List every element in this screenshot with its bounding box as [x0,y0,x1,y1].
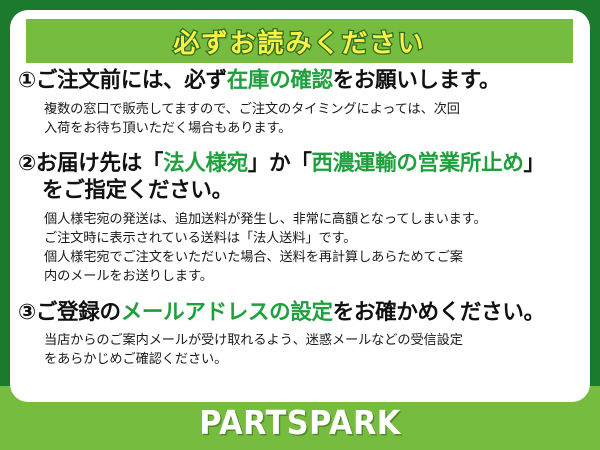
heading-text: お届け先は「 [36,151,163,176]
notice-body-line: 個人様宅宛でご注文をいただいた場合、送料を再計算しあらためてご案 [44,248,582,267]
notice-item-body: 複数の窓口で販売してますので、ご注文のタイミングによっては、次回入荷をお待ち頂い… [18,100,582,139]
notice-item-marker: ① [18,68,36,93]
notice-item-heading: ①ご注文前には、必ず在庫の確認をお願いします。 [18,68,582,95]
heading-highlight: 西濃運輸の営業所止め [312,151,524,176]
spacer [10,138,590,151]
brand-wordmark: PARTSPARK [24,403,576,442]
title-banner: 必ずお読みください [26,19,573,63]
notice-item-heading: ②お届け先は「法人様宛」か「西濃運輸の営業所止め」 [18,151,582,178]
notice-item-body: 個人様宅宛の発送は、追加送料が発生し、非常に高額となってしまいます。ご注文時に表… [18,210,582,287]
notice-card: 必ずお読みください ①ご注文前には、必ず在庫の確認をお願いします。複数の窓口で販… [10,10,590,402]
heading-text: ご注文前には、必ず [36,68,227,93]
notice-body-line: をあらかじめご確認ください。 [44,350,582,369]
notice-body-line: 内のメールをお送りします。 [44,267,582,286]
heading-text: ご登録の [36,300,121,325]
notice-item-body: 当店からのご案内メールが受け取れるよう、迷惑メールなどの受信設定をあらかじめご確… [18,331,582,370]
heading-highlight: メールアドレスの設定 [121,300,333,325]
heading-text: をお願いします。 [333,68,500,93]
notice-banner: PARTSPARK 必ずお読みください ①ご注文前には、必ず在庫の確認をお願いし… [0,0,600,450]
heading-highlight: 法人様宛 [163,151,248,176]
heading-highlight: 在庫の確認 [227,68,333,93]
notice-body-line: 入荷をお待ち頂いただく場合もあります。 [44,119,582,138]
spacer [10,287,590,300]
page-title: 必ずお読みください [173,23,425,60]
notice-item: ③ご登録のメールアドレスの設定をお確かめください。当店からのご案内メールが受け取… [10,300,590,370]
heading-text: 」 [524,151,545,176]
heading-text: をお確かめください。 [333,300,545,325]
notice-body-line: 当店からのご案内メールが受け取れるよう、迷惑メールなどの受信設定 [44,331,582,350]
notice-item-heading: ③ご登録のメールアドレスの設定をお確かめください。 [18,300,582,327]
notice-item-marker: ② [18,151,36,176]
notice-body-line: 個人様宅宛の発送は、追加送料が発生し、非常に高額となってしまいます。 [44,210,582,229]
heading-text: 」か「 [248,151,312,176]
notice-items: ①ご注文前には、必ず在庫の確認をお願いします。複数の窓口で販売してますので、ご注… [10,68,590,370]
notice-item: ①ご注文前には、必ず在庫の確認をお願いします。複数の窓口で販売してますので、ご注… [10,68,590,138]
notice-item-marker: ③ [18,300,36,325]
notice-item-heading-line2: をご指定ください。 [18,178,582,205]
notice-body-line: ご注文時に表示されている送料は「法人送料」です。 [44,229,582,248]
notice-body-line: 複数の窓口で販売してますので、ご注文のタイミングによっては、次回 [44,100,582,119]
notice-item: ②お届け先は「法人様宛」か「西濃運輸の営業所止め」をご指定ください。個人様宅宛の… [10,151,590,286]
